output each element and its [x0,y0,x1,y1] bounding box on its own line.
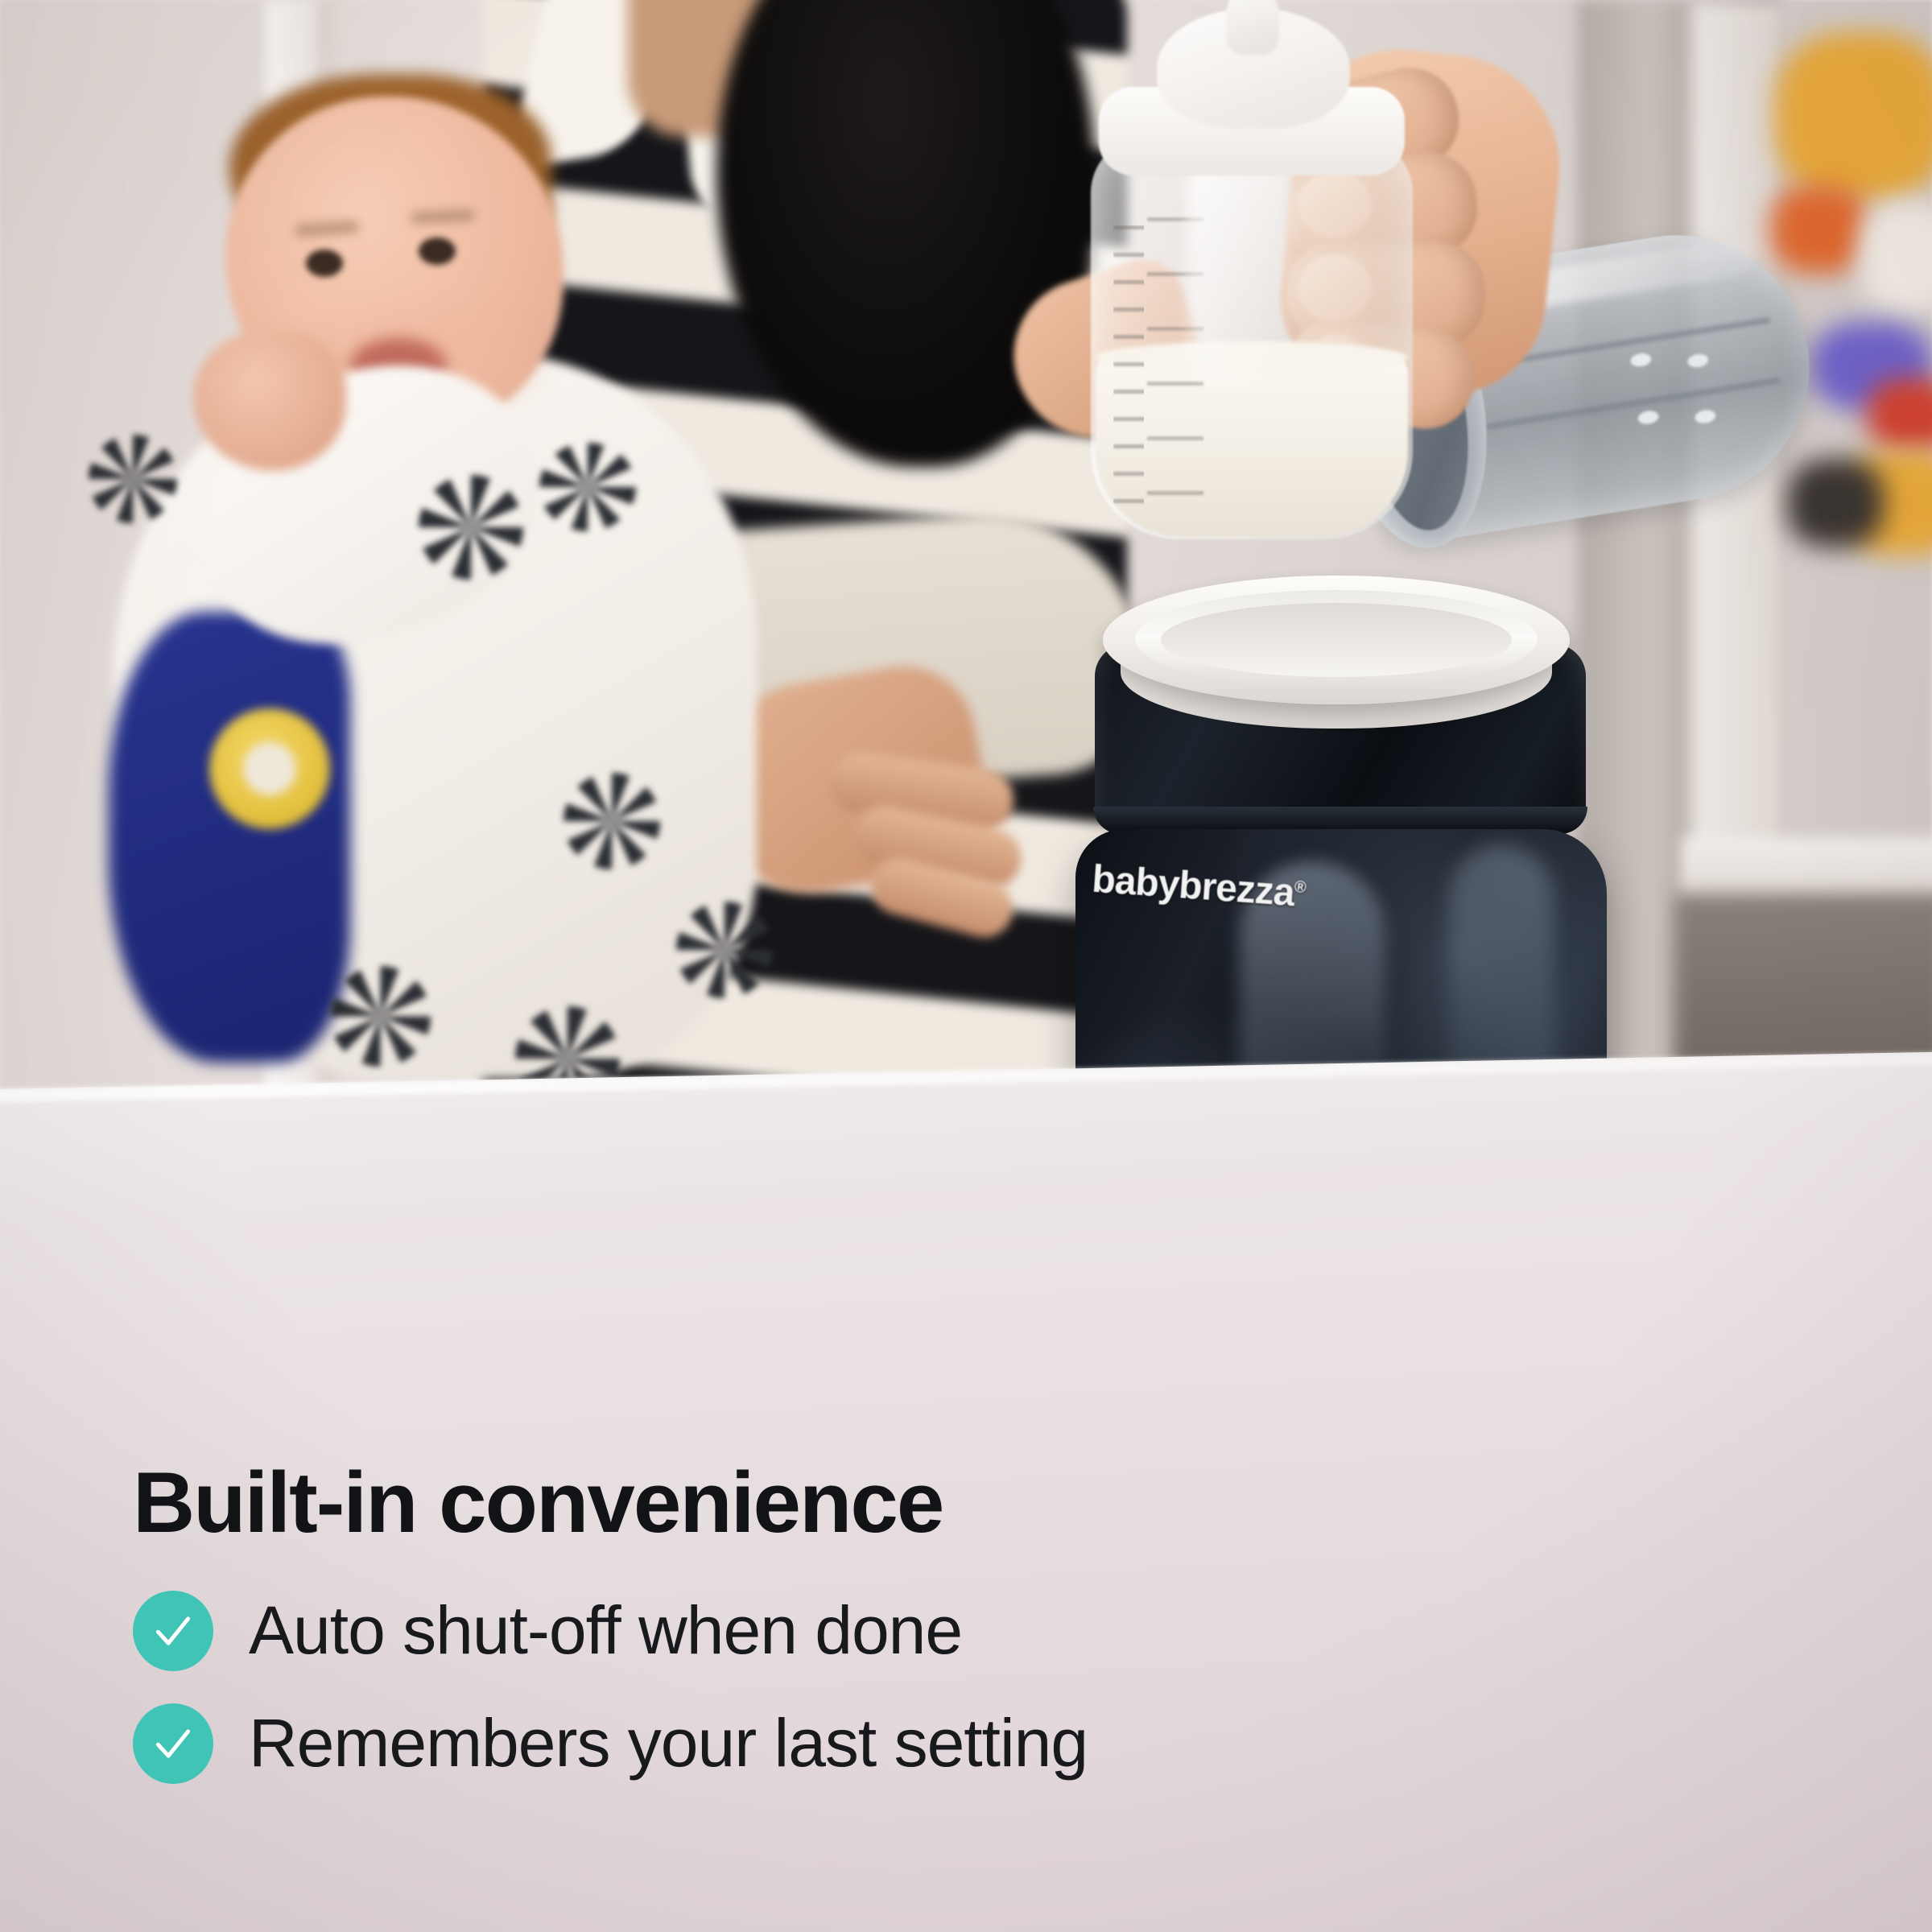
onesie-motif [89,435,177,523]
background-toy-red [1868,378,1932,451]
onesie-motif [539,443,636,531]
onesie-motif [419,475,523,580]
bowl-cavity [1161,603,1512,677]
background-toy-yellow [1775,32,1932,201]
feature-bullet: Remembers your last setting [133,1703,1823,1784]
marketing-copy: Built-in convenience Auto shut-off when … [133,1459,1823,1816]
product-lifestyle-image: babybrezza® on off set temp quick warm s… [0,0,1932,1932]
feature-label: Auto shut-off when done [249,1595,962,1666]
check-icon [133,1591,213,1671]
onesie-motif [676,902,773,998]
onesie-motif [563,773,660,869]
page-title: Built-in convenience [133,1459,1823,1546]
onesie-motif [330,966,431,1067]
bottle-highlight [1187,153,1292,386]
registered-mark: ® [1294,878,1306,897]
nipple-tip [1226,0,1279,55]
white-warming-bowl [1103,576,1570,737]
baby-bottle [1091,16,1429,547]
blue-blanket [109,612,350,1063]
baby-figure [64,97,821,1119]
background-toy-white [1860,201,1932,314]
teething-toy [209,708,330,829]
feature-label: Remembers your last setting [249,1707,1088,1779]
check-icon [133,1703,213,1784]
baby-eye [419,237,456,265]
baby-eye [306,250,343,277]
feature-bullet: Auto shut-off when done [133,1591,1823,1671]
